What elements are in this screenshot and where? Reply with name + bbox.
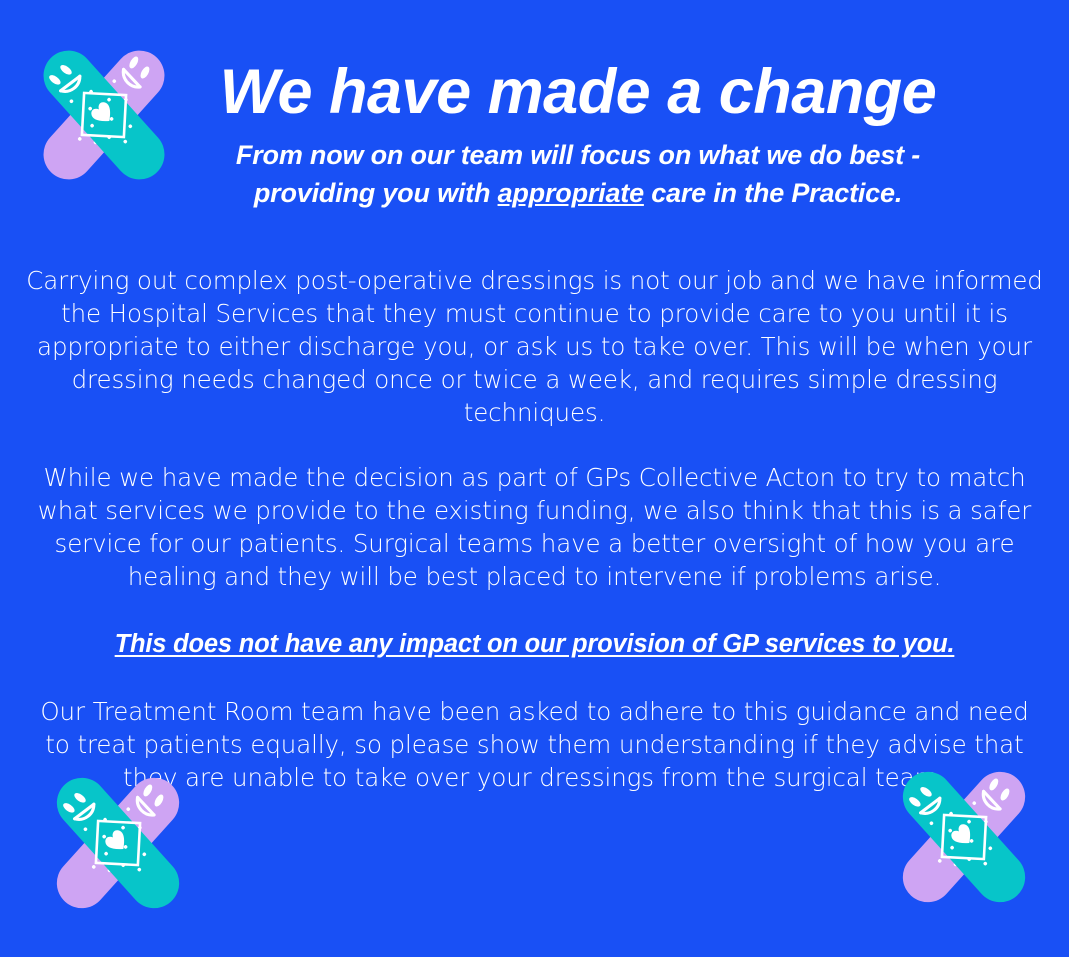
poster-body: Carrying out complex post-operative dres… [26, 264, 1043, 794]
subtitle-line-1: From now on our team will focus on what … [236, 140, 920, 170]
bandage-teal [30, 37, 179, 193]
crossed-bandages-icon-top-left [16, 34, 192, 196]
body-paragraph-2: While we have made the decision as part … [26, 461, 1043, 593]
bandage-pad [922, 795, 1006, 879]
body-emphasis-statement: This does not have any impact on our pro… [26, 627, 1043, 661]
subtitle-line-2-after: care in the Practice. [644, 178, 902, 208]
subtitle-line-2-before: providing you with [254, 178, 498, 208]
poster-subtitle: From now on our team will focus on what … [196, 136, 960, 213]
bandage-purple [33, 40, 175, 189]
body-paragraph-3: Our Treatment Room team have been asked … [26, 695, 1043, 794]
subtitle-emphasis-appropriate: appropriate [498, 178, 644, 208]
body-paragraph-1: Carrying out complex post-operative dres… [26, 264, 1043, 429]
page-title: We have made a change [196, 58, 960, 126]
poster-header: We have made a change From now on our te… [196, 58, 960, 213]
bandage-pad [76, 801, 160, 885]
bandage-pad [62, 73, 146, 157]
poster-canvas: We have made a change From now on our te… [0, 0, 1069, 957]
